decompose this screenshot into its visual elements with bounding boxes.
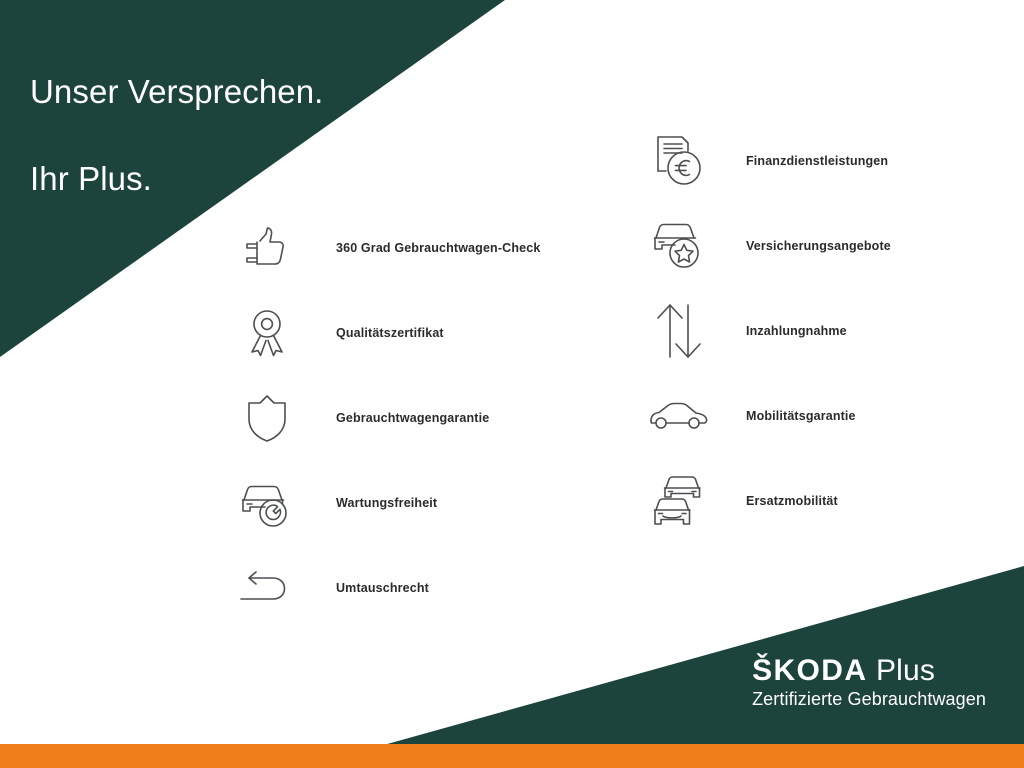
benefit-label: Wartungsfreiheit [336,496,437,510]
benefit-item-360-grad-check: 360 Grad Gebrauchtwagen-Check [236,205,636,290]
benefit-item-ersatzmobilitaet: Ersatzmobilität [648,458,1018,543]
benefit-item-umtauschrecht: Umtauschrecht [236,545,636,630]
brand-suffix: Plus [867,654,935,687]
benefit-label: Versicherungsangebote [746,239,891,253]
benefit-label: Inzahlungnahme [746,324,847,338]
thumbs-up-icon [236,217,298,279]
benefit-item-versicherungsangebote: Versicherungsangebote [648,203,1018,288]
benefits-column-right: Finanzdienstleistungen Versicherungsange… [648,118,1018,543]
benefit-item-finanzdienstleistungen: Finanzdienstleistungen [648,118,1018,203]
benefit-label: Finanzdienstleistungen [746,154,888,168]
benefit-label: 360 Grad Gebrauchtwagen-Check [336,241,540,255]
benefit-item-mobilitaetsgarantie: Mobilitätsgarantie [648,373,1018,458]
benefit-item-inzahlungnahme: Inzahlungnahme [648,288,1018,373]
benefit-label: Umtauschrecht [336,581,429,595]
brand-name: ŠKODA [752,654,867,687]
u-turn-arrow-icon [236,557,298,619]
benefit-item-gebrauchtwagengarantie: Gebrauchtwagengarantie [236,375,636,460]
benefit-label: Qualitätszertifikat [336,326,444,340]
car-star-icon [648,215,710,277]
benefit-item-wartungsfreiheit: Wartungsfreiheit [236,460,636,545]
brand-wordmark: ŠKODA Plus [752,655,986,687]
promo-poster: Unser Versprechen. Ihr Plus. 360 Grad Ge… [0,0,1024,768]
orange-accent-bar [0,744,1024,768]
headline-line-1: Unser Versprechen. [30,70,323,114]
two-cars-icon [648,470,710,532]
award-rosette-icon [236,302,298,364]
headline-line-2: Ihr Plus. [30,157,323,201]
brand-tagline: Zertifizierte Gebrauchtwagen [752,689,986,710]
benefit-label: Ersatzmobilität [746,494,838,508]
benefit-item-qualitaetszertifikat: Qualitätszertifikat [236,290,636,375]
benefit-label: Mobilitätsgarantie [746,409,856,423]
car-wrench-icon [236,472,298,534]
benefits-column-left: 360 Grad Gebrauchtwagen-Check Qualitätsz… [236,205,636,630]
up-down-arrows-icon [648,300,710,362]
car-side-icon [648,385,710,447]
benefit-label: Gebrauchtwagengarantie [336,411,489,425]
brand-lockup: ŠKODA Plus Zertifizierte Gebrauchtwagen [752,655,986,710]
shield-icon [236,387,298,449]
document-euro-icon [648,130,710,192]
